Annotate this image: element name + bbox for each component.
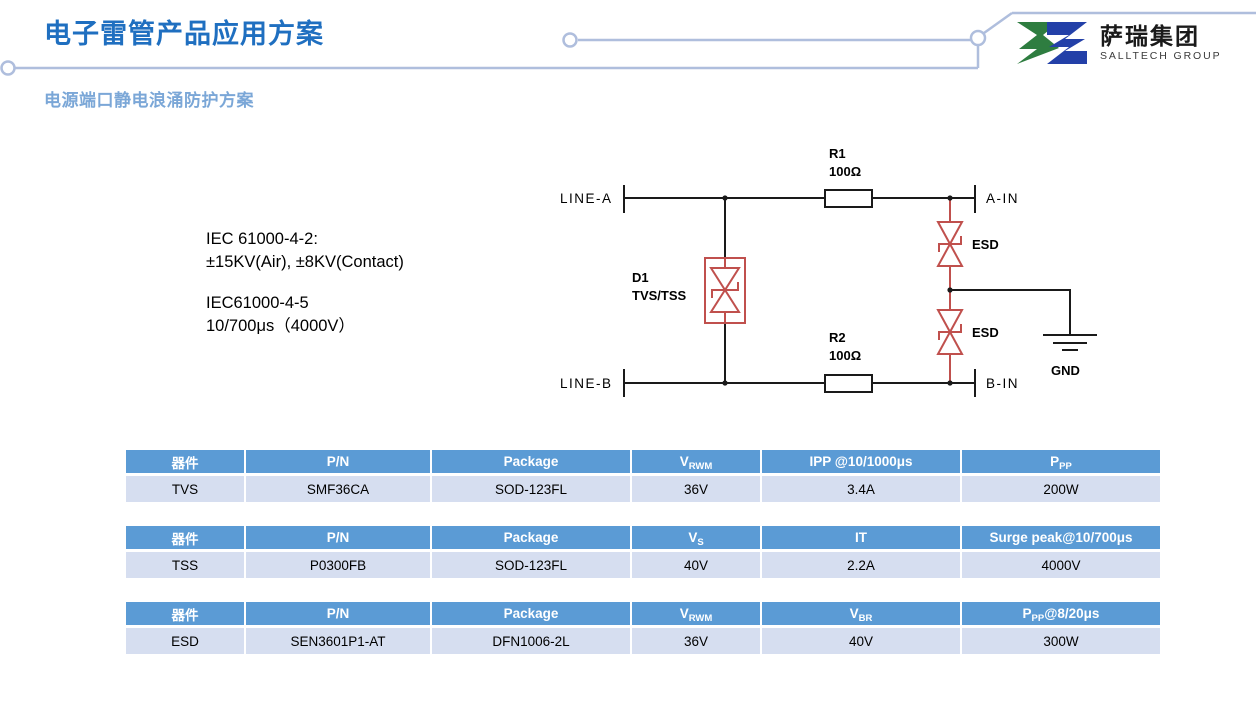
table-cell: 300W (962, 628, 1160, 654)
label-a-in: A-IN (986, 191, 1019, 206)
table-cell: SOD-123FL (432, 476, 630, 502)
table-header-row: 器件 P/N Package VRWM VBR PPP@8/20μs (126, 602, 1160, 625)
table-cell: SOD-123FL (432, 552, 630, 578)
label-r1-value: 100Ω (829, 164, 861, 179)
spec-line-1: IEC 61000-4-2: (206, 230, 318, 248)
label-esd-bottom: ESD (972, 325, 999, 340)
table-header-cell: IPP @10/1000μs (762, 450, 960, 473)
label-r1-ref: R1 (829, 146, 846, 161)
spec-table-esd: 器件 P/N Package VRWM VBR PPP@8/20μs ESD S… (124, 599, 1162, 657)
table-header-row: 器件 P/N Package VS IT Surge peak@10/700μs (126, 526, 1160, 549)
deco-circle-left (2, 62, 15, 75)
table-cell: SEN3601P1-AT (246, 628, 430, 654)
table-header-cell: 器件 (126, 526, 244, 549)
table-row: ESD SEN3601P1-AT DFN1006-2L 36V 40V 300W (126, 628, 1160, 654)
table-cell: 200W (962, 476, 1160, 502)
page-subtitle: 电源端口静电浪涌防护方案 (44, 86, 254, 111)
table-cell: 4000V (962, 552, 1160, 578)
esd-top-triangle-upper (938, 222, 962, 244)
spec-text-block: IEC 61000-4-2: ±15KV(Air), ±8KV(Contact)… (206, 228, 404, 338)
deco-circle-right (971, 31, 985, 45)
spec-gap (206, 274, 404, 292)
table-row: TVS SMF36CA SOD-123FL 36V 3.4A 200W (126, 476, 1160, 502)
table-header-cell: VRWM (632, 602, 760, 625)
esd-bottom-zener-bar (939, 325, 961, 339)
table-header-cell: P/N (246, 450, 430, 473)
resistor-r2-body (825, 375, 872, 392)
table-header-cell: Package (432, 450, 630, 473)
esd-top-triangle-lower (938, 244, 962, 266)
label-gnd: GND (1051, 363, 1080, 378)
table-cell: 3.4A (762, 476, 960, 502)
spec-table-tvs: 器件 P/N Package VRWM IPP @10/1000μs PPP T… (124, 447, 1162, 505)
logo-name-cn: 萨瑞集团 (1100, 25, 1222, 48)
table-header-cell: 器件 (126, 450, 244, 473)
junction-dot-b-in (947, 380, 952, 385)
resistor-r1-body (825, 190, 872, 207)
table-cell: ESD (126, 628, 244, 654)
table-row: TSS P0300FB SOD-123FL 40V 2.2A 4000V (126, 552, 1160, 578)
table-header-cell: 器件 (126, 602, 244, 625)
brand-logo: 萨瑞集团 SALLTECH GROUP (1013, 20, 1222, 66)
table-header-cell: PPP (962, 450, 1160, 473)
label-r2-ref: R2 (829, 330, 846, 345)
label-r2-value: 100Ω (829, 348, 861, 363)
label-b-in: B-IN (986, 376, 1019, 391)
label-line-a: LINE-A (560, 191, 613, 206)
junction-dot-a-in (947, 195, 952, 200)
label-esd-top: ESD (972, 237, 999, 252)
table-header-cell: Package (432, 526, 630, 549)
table-header-cell: IT (762, 526, 960, 549)
junction-dot-b (722, 380, 727, 385)
label-d1-ref: D1 (632, 270, 649, 285)
table-cell: 36V (632, 628, 760, 654)
label-line-b: LINE-B (560, 376, 613, 391)
esd-bottom-triangle-lower (938, 332, 962, 354)
deco-line-diagonal (984, 13, 1012, 33)
logo-blue-shape (1047, 22, 1087, 64)
table-cell: 40V (632, 552, 760, 578)
table-header-cell: PPP@8/20μs (962, 602, 1160, 625)
esd-bottom-triangle-upper (938, 310, 962, 332)
table-header-cell: Package (432, 602, 630, 625)
junction-dot-a (722, 195, 727, 200)
page-title: 电子雷管产品应用方案 (44, 12, 324, 51)
table-cell: TVS (126, 476, 244, 502)
spec-line-4: 10/700μs（4000V） (206, 317, 355, 335)
junction-dot-gnd-bus (947, 287, 952, 292)
ground-symbol (1044, 335, 1096, 350)
table-cell: 2.2A (762, 552, 960, 578)
table-cell: P0300FB (246, 552, 430, 578)
salltech-logo-mark (1013, 20, 1091, 66)
logo-name-en: SALLTECH GROUP (1100, 51, 1222, 62)
table-header-cell: P/N (246, 526, 430, 549)
table-header-row: 器件 P/N Package VRWM IPP @10/1000μs PPP (126, 450, 1160, 473)
circuit-diagram: LINE-A LINE-B A-IN B-IN GND D1 TVS/TSS R… (520, 140, 1130, 420)
spec-line-2: ±15KV(Air), ±8KV(Contact) (206, 253, 404, 271)
table-cell: 40V (762, 628, 960, 654)
table-cell: TSS (126, 552, 244, 578)
spec-table-tss: 器件 P/N Package VS IT Surge peak@10/700μs… (124, 523, 1162, 581)
table-cell: SMF36CA (246, 476, 430, 502)
table-header-cell: VS (632, 526, 760, 549)
table-header-cell: VRWM (632, 450, 760, 473)
logo-wordmark: 萨瑞集团 SALLTECH GROUP (1100, 25, 1222, 62)
spec-line-3: IEC61000-4-5 (206, 294, 309, 312)
table-cell: 36V (632, 476, 760, 502)
esd-top-zener-bar (939, 237, 961, 251)
table-cell: DFN1006-2L (432, 628, 630, 654)
table-header-cell: Surge peak@10/700μs (962, 526, 1160, 549)
deco-circle-mid (564, 34, 577, 47)
label-d1-type: TVS/TSS (632, 288, 687, 303)
table-header-cell: P/N (246, 602, 430, 625)
table-header-cell: VBR (762, 602, 960, 625)
